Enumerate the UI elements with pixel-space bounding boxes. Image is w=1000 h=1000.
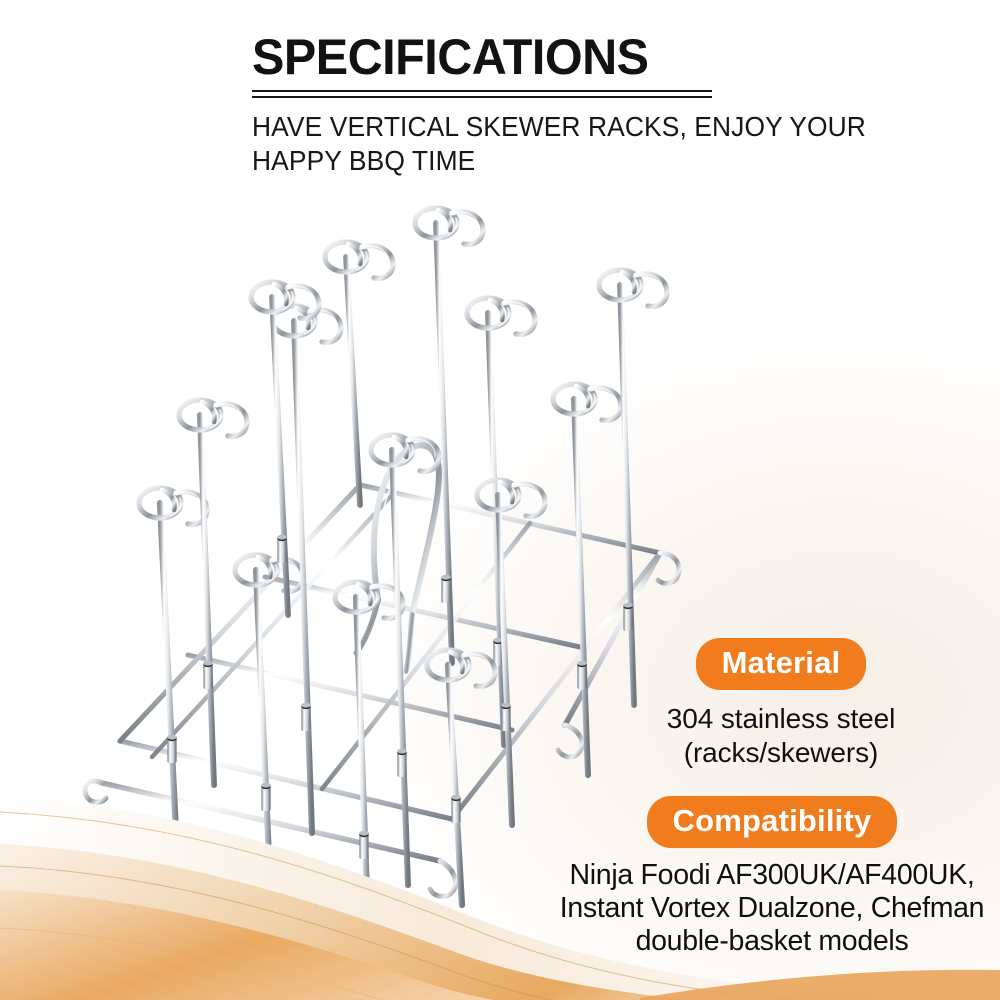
base-hook-right	[658, 553, 679, 583]
base-hook-front	[430, 861, 456, 897]
header-block: SPECIFICATIONS HAVE VERTICAL SKEWER RACK…	[252, 32, 952, 177]
rule-line-top	[252, 90, 712, 92]
skewer	[335, 582, 403, 945]
title-double-rule	[252, 90, 712, 98]
badge-compatibility: Compatibility	[647, 796, 898, 848]
badge-material: Material	[696, 638, 867, 690]
page-title: SPECIFICATIONS	[252, 32, 931, 82]
spec-material-text: 304 stainless steel (racks/skewers)	[566, 702, 996, 769]
ribbon-accent-right	[640, 970, 1000, 1000]
skewer	[179, 400, 247, 785]
spec-compatibility: Compatibility Ninja Foodi AF300UK/AF400U…	[546, 796, 998, 958]
infographic-page: SPECIFICATIONS HAVE VERTICAL SKEWER RACK…	[0, 0, 1000, 1000]
spec-compatibility-text: Ninja Foodi AF300UK/AF400UK, Instant Vor…	[546, 859, 998, 958]
page-subtitle: HAVE VERTICAL SKEWER RACKS, ENJOY YOUR H…	[252, 110, 943, 177]
base-hook-left	[85, 781, 106, 802]
rule-line-bottom	[252, 96, 712, 98]
spec-material: Material 304 stainless steel (racks/skew…	[566, 638, 996, 769]
